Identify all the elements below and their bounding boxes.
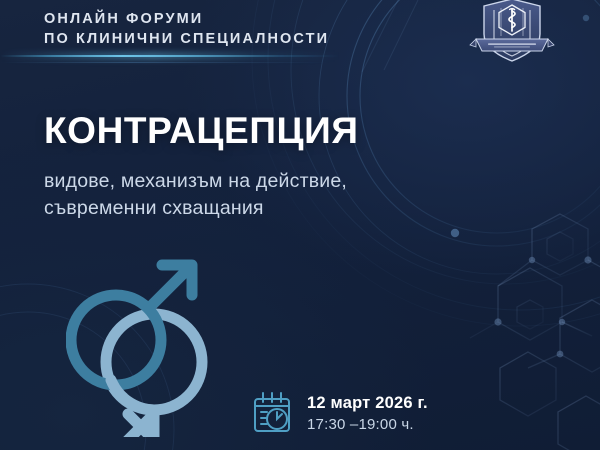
webinar-poster: ОНЛАЙН ФОРУМИ ПО КЛИНИЧНИ СПЕЦИАЛНОСТИ xyxy=(0,0,600,450)
page-subtitle: видове, механизъм на действие, съвременн… xyxy=(44,168,347,221)
event-time: 17:30 –19:00 ч. xyxy=(307,415,428,434)
gender-symbols-graphic xyxy=(66,252,246,437)
accent-divider xyxy=(0,55,340,57)
programme-eyebrow: ОНЛАЙН ФОРУМИ ПО КЛИНИЧНИ СПЕЦИАЛНОСТИ xyxy=(44,9,329,49)
calendar-clock-icon xyxy=(250,391,294,435)
medical-crest-logo xyxy=(466,0,558,64)
schedule-block: 12 март 2026 г. 17:30 –19:00 ч. xyxy=(250,391,428,435)
event-date: 12 март 2026 г. xyxy=(307,393,428,413)
page-title: КОНТРАЦЕПЦИЯ xyxy=(44,110,359,152)
accent-divider-secondary xyxy=(0,62,330,63)
